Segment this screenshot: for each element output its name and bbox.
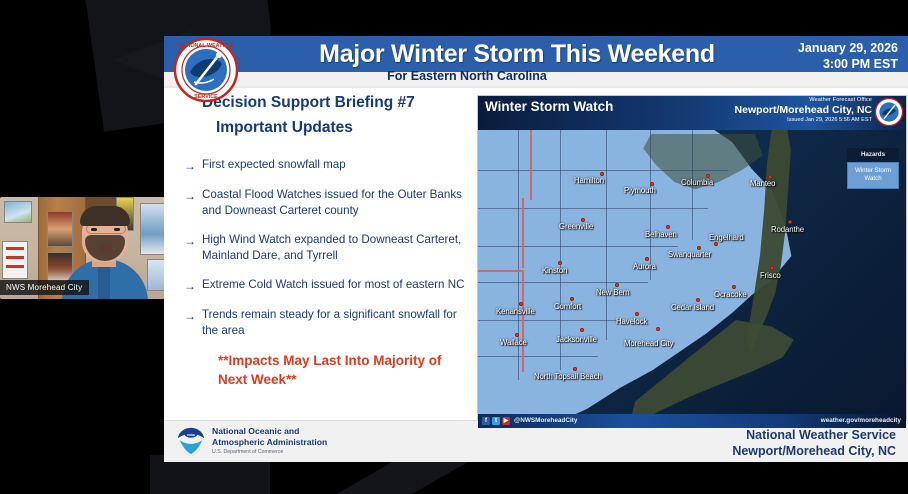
noaa-agency-text: National Oceanic and Atmospheric Adminis… (212, 426, 327, 455)
city-marker (770, 266, 774, 270)
presenter-mouth (99, 245, 112, 252)
list-item: → High Wind Watch expanded to Downeast C… (178, 232, 478, 264)
participant-video-tile[interactable]: NWS Morehead City (0, 197, 172, 299)
city-label: Greenville (559, 222, 593, 231)
slide-subtitle: For Eastern North Carolina (252, 69, 682, 83)
presentation-slide: NATIONAL WEATHER SERVICE Major Winter St… (164, 36, 908, 462)
city-label: Havelock (616, 317, 647, 326)
briefing-subtitle: Important Updates (216, 119, 478, 137)
briefing-time: 3:00 PM EST (798, 57, 898, 73)
map-title: Winter Storm Watch (485, 99, 613, 114)
county-boundary (650, 130, 651, 280)
city-marker (519, 302, 523, 306)
noaa-line-2: Atmospheric Administration (212, 437, 327, 448)
map-issued-time: Issued Jan 29, 2026 5:56 AM EST (735, 117, 872, 123)
county-boundary (478, 320, 618, 321)
city-label: Manteo (750, 179, 775, 188)
city-marker (714, 242, 718, 246)
city-label: Morehead City (624, 339, 673, 348)
social-handle: @NWSMoreheadCity (514, 417, 577, 424)
hazard-map-panel[interactable]: Winter Storm Watch Weather Forecast Offi… (477, 95, 907, 429)
briefing-date: January 29, 2026 (798, 41, 898, 57)
city-marker (635, 312, 639, 316)
svg-text:SERVICE: SERVICE (194, 94, 218, 100)
city-marker (732, 285, 736, 289)
arrow-icon: → (178, 277, 202, 294)
city-marker (788, 220, 792, 224)
county-boundary (478, 282, 648, 283)
county-boundary (478, 356, 598, 357)
slide-main-title: Major Winter Storm This Weekend (252, 40, 782, 69)
nws-seal-icon-small (875, 98, 903, 126)
list-item: → Coastal Flood Watches issued for the O… (178, 187, 478, 219)
map-hazards-legend: Hazards Winter Storm Watch (847, 148, 899, 189)
city-marker (570, 297, 574, 301)
city-marker (696, 298, 700, 302)
state-boundary (530, 130, 532, 200)
bullet-text: First expected snowfall map (202, 157, 472, 174)
bullet-text: Extreme Cold Watch issued for most of ea… (202, 277, 472, 294)
slide-content-left: Decision Support Briefing #7 Important U… (178, 94, 478, 390)
city-label: Rodanthe (771, 225, 804, 234)
city-label: Cedar Island (671, 303, 714, 312)
video-background-poster (2, 241, 28, 279)
footer-office-block: National Weather Service Newport/Morehea… (732, 427, 896, 460)
map-canvas[interactable]: HamiltonPlymouthColumbiaManteoGreenville… (478, 130, 907, 416)
county-boundary (560, 130, 561, 370)
youtube-icon[interactable]: ▶ (502, 417, 510, 425)
map-website-url: weather.gov/moreheadcity (821, 417, 901, 424)
city-label: Swanquarter (668, 250, 711, 259)
list-item: → Extreme Cold Watch issued for most of … (178, 277, 478, 294)
city-label: Kinston (542, 266, 567, 275)
city-label: Plymouth (624, 186, 656, 195)
city-label: Wallace (500, 338, 527, 347)
video-background-poster (47, 211, 73, 247)
city-marker (573, 367, 577, 371)
legend-item-winter-storm-watch: Winter Storm Watch (847, 162, 899, 189)
footer-nws-name: National Weather Service (732, 427, 896, 443)
svg-text:noaa: noaa (187, 433, 195, 437)
noaa-line-1: National Oceanic and (212, 426, 327, 437)
city-label: Ocracoke (714, 290, 747, 299)
bullet-text: Coastal Flood Watches issued for the Out… (202, 187, 472, 219)
briefing-title: Decision Support Briefing #7 (202, 94, 478, 112)
city-label: Belhaven (645, 230, 677, 239)
presenter-hair (80, 206, 130, 226)
county-boundary (478, 208, 708, 209)
participant-name-label: NWS Morehead City (0, 280, 89, 295)
map-office-block: Weather Forecast Office Newport/Morehead… (735, 97, 872, 123)
bullet-text: High Wind Watch expanded to Downeast Car… (202, 232, 472, 264)
city-label: Kenansville (496, 307, 535, 316)
list-item: → First expected snowfall map (178, 157, 478, 174)
bullet-text: Trends remain steady for a significant s… (202, 307, 472, 339)
county-boundary (606, 130, 607, 340)
twitter-icon[interactable]: t (492, 417, 500, 425)
noaa-logo-icon: noaa (176, 426, 206, 456)
arrow-icon: → (178, 232, 202, 264)
map-header-band: Winter Storm Watch Weather Forecast Offi… (478, 96, 906, 130)
svg-text:NATIONAL WEATHER: NATIONAL WEATHER (178, 43, 234, 49)
list-item: → Trends remain steady for a significant… (178, 307, 478, 339)
wfo-office-name: Newport/Morehead City, NC (735, 104, 872, 116)
city-marker (615, 283, 619, 287)
arrow-icon: → (178, 187, 202, 219)
city-label: Engelhard (709, 233, 744, 242)
city-marker (656, 327, 660, 331)
city-marker (515, 333, 519, 337)
slide-header-datetime: January 29, 2026 3:00 PM EST (798, 41, 898, 72)
impact-callout: **Impacts May Last Into Majority of Next… (218, 352, 453, 390)
legend-title: Hazards (847, 148, 899, 161)
noaa-department: U.S. Department of Commerce (212, 449, 327, 455)
city-label: New Bern (596, 288, 629, 297)
city-label: North Topsail Beach (534, 372, 602, 381)
county-boundary (478, 246, 678, 247)
map-footer-bar: f t ▶ @NWSMoreheadCity weather.gov/moreh… (478, 414, 906, 428)
screen: NWS Morehead City NATIONAL WEATHER SERVI… (0, 0, 908, 494)
bullet-list: → First expected snowfall map → Coastal … (178, 157, 478, 339)
presenter-glasses (86, 224, 126, 234)
city-label: Hamilton (574, 176, 604, 185)
city-label: Columbia (681, 178, 713, 187)
state-boundary (478, 270, 524, 272)
city-label: Comfort (554, 302, 581, 311)
video-background-poster (4, 201, 32, 223)
footer-office-name: Newport/Morehead City, NC (732, 443, 896, 459)
wfo-label: Weather Forecast Office (735, 97, 872, 103)
arrow-icon: → (178, 157, 202, 174)
arrow-icon: → (178, 307, 202, 339)
city-label: Aurora (633, 262, 656, 271)
state-boundary (522, 198, 524, 268)
city-marker (666, 225, 670, 229)
county-boundary (478, 170, 728, 171)
city-marker (645, 257, 649, 261)
city-label: Frisco (760, 271, 781, 280)
city-marker (558, 261, 562, 265)
city-marker (580, 328, 584, 332)
city-label: Jacksonville (556, 335, 597, 344)
state-boundary (522, 272, 524, 372)
nws-seal-icon: NATIONAL WEATHER SERVICE (174, 38, 238, 102)
facebook-icon[interactable]: f (482, 417, 490, 425)
